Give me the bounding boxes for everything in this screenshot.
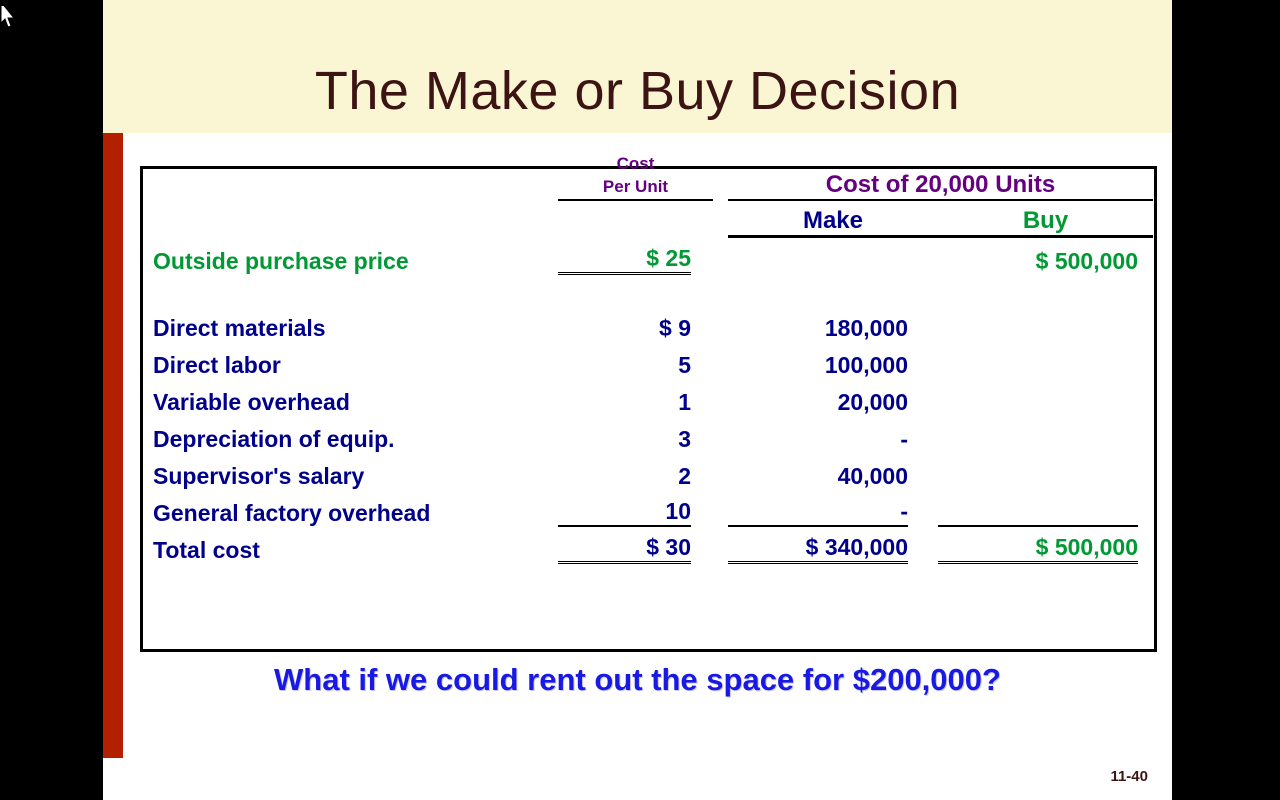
header-buy: Buy: [938, 201, 1153, 238]
mouse-cursor-icon: [0, 6, 18, 32]
header-cost-of-units: Cost of 20,000 Units: [728, 153, 1153, 201]
table-row: Variable overhead 1 20,000: [143, 379, 1153, 416]
row-gap: [713, 379, 728, 416]
table-row: Direct labor 5 100,000: [143, 342, 1153, 379]
row-per-unit: $ 25: [558, 238, 713, 275]
row-make: 40,000: [728, 453, 938, 490]
row-gap: [713, 490, 728, 527]
row-gap: [713, 238, 728, 275]
header-cost-per-unit: Cost Per Unit: [558, 153, 713, 201]
row-per-unit: 1: [558, 379, 713, 416]
row-make: $ 340,000: [728, 527, 938, 564]
row-buy: [938, 342, 1153, 379]
header-cost-of-units-label: Cost of 20,000 Units: [826, 171, 1055, 198]
header-make-label: Make: [803, 207, 863, 234]
row-make: -: [728, 416, 938, 453]
header-gap-2: [713, 201, 728, 238]
presentation-slide: The Make or Buy Decision Cost Per Unit: [103, 0, 1172, 800]
row-label: General factory overhead: [143, 490, 558, 527]
header-cost-line2: Per Unit: [603, 177, 668, 196]
row-per-unit: $ 9: [558, 305, 713, 342]
table-row: Supervisor's salary 2 40,000: [143, 453, 1153, 490]
row-label: Variable overhead: [143, 379, 558, 416]
row-make: [728, 238, 938, 275]
row-buy: [938, 379, 1153, 416]
row-per-unit: $ 30: [558, 527, 713, 564]
row-make: 20,000: [728, 379, 938, 416]
header-blank-2: [143, 201, 558, 238]
header-cost-line1: Cost: [617, 154, 655, 173]
screen-background: The Make or Buy Decision Cost Per Unit: [0, 0, 1280, 800]
row-buy: [938, 305, 1153, 342]
row-per-unit: 5: [558, 342, 713, 379]
header-blank-3: [558, 201, 713, 238]
row-label: Direct labor: [143, 342, 558, 379]
row-gap: [713, 305, 728, 342]
row-gap: [713, 453, 728, 490]
table-header-row-1: Cost Per Unit Cost of 20,000 Units: [143, 153, 1153, 201]
page-title: The Make or Buy Decision: [103, 60, 1172, 122]
table-row: Direct materials $ 9 180,000: [143, 305, 1153, 342]
row-make-double-rule: [728, 561, 908, 564]
row-make-value: $ 340,000: [806, 534, 908, 560]
table-row-total: Total cost $ 30 $ 340,000 $ 500,000: [143, 527, 1153, 564]
header-buy-label: Buy: [1023, 207, 1068, 234]
row-buy: [938, 453, 1153, 490]
row-gap: [713, 342, 728, 379]
row-buy: $ 500,000: [938, 238, 1153, 275]
table-row: Outside purchase price $ 25 $ 500,000: [143, 238, 1153, 275]
row-label: Supervisor's salary: [143, 453, 558, 490]
row-make: 180,000: [728, 305, 938, 342]
row-make: -: [728, 490, 938, 527]
table-region: Cost Per Unit Cost of 20,000 Units: [103, 150, 1172, 670]
row-per-unit-value: 10: [665, 498, 691, 524]
table-row: Depreciation of equip. 3 -: [143, 416, 1153, 453]
row-label: Direct materials: [143, 305, 558, 342]
row-buy: [938, 490, 1153, 527]
row-make-value: -: [900, 498, 908, 524]
row-per-unit: 3: [558, 416, 713, 453]
table-header-row-2: Make Buy: [143, 201, 1153, 238]
header-gap-1: [713, 153, 728, 201]
table-row: General factory overhead 10 -: [143, 490, 1153, 527]
make-or-buy-table: Cost Per Unit Cost of 20,000 Units: [143, 153, 1153, 564]
row-per-unit: 2: [558, 453, 713, 490]
row-buy-double-rule: [938, 561, 1138, 564]
closing-question: What if we could rent out the space for …: [103, 662, 1172, 698]
row-gap: [713, 416, 728, 453]
table-spacer-row: [143, 275, 1153, 305]
row-per-unit-value: $ 25: [646, 245, 691, 271]
row-buy: [938, 416, 1153, 453]
row-label: Outside purchase price: [143, 238, 558, 275]
row-per-unit-double-rule: [558, 561, 691, 564]
row-per-unit: 10: [558, 490, 713, 527]
header-blank-1: [143, 153, 558, 201]
row-per-unit-value: $ 30: [646, 534, 691, 560]
row-buy: $ 500,000: [938, 527, 1153, 564]
row-label: Depreciation of equip.: [143, 416, 558, 453]
header-make: Make: [728, 201, 938, 238]
row-make: 100,000: [728, 342, 938, 379]
row-buy-value: $ 500,000: [1036, 534, 1138, 560]
spacer-cell: [143, 275, 1153, 305]
row-label: Total cost: [143, 527, 558, 564]
slide-number: 11-40: [103, 768, 1148, 785]
row-gap: [713, 527, 728, 564]
